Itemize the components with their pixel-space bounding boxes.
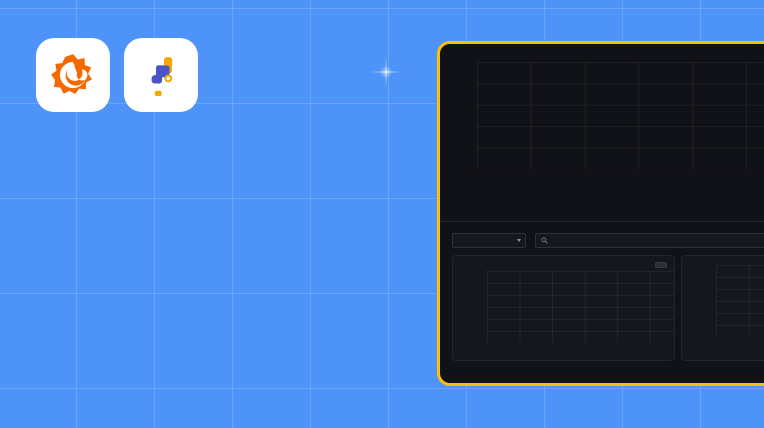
search-input[interactable] [535, 233, 764, 248]
top-chart-series [477, 62, 764, 169]
dashboard-card [437, 41, 764, 386]
hero-panel [0, 0, 430, 428]
by-label-group [452, 230, 526, 248]
opentelemetry-logo-icon [137, 51, 185, 99]
top-chart-plot-area [440, 62, 764, 169]
insert-y-axis [682, 265, 716, 337]
top-chart-y-axis [440, 62, 477, 169]
grafana-logo-tile [36, 38, 110, 112]
top-chart-x-axis [477, 169, 764, 182]
insert-x-axis [716, 337, 764, 348]
select-panel-header [453, 262, 674, 268]
add-to-filters-button[interactable] [655, 262, 667, 268]
breakdown-panel-row [440, 248, 764, 361]
breakdown-panel-insert[interactable] [681, 255, 764, 361]
breakdown-panel-select[interactable] [452, 255, 675, 361]
chevron-down-icon [517, 239, 521, 242]
logo-row [36, 38, 430, 112]
insert-plot-area [682, 265, 764, 337]
select-y-axis [453, 271, 487, 343]
insert-chart-canvas [716, 265, 764, 337]
by-label-select[interactable] [452, 233, 526, 248]
tab-bar [440, 199, 764, 222]
top-chart-panel [440, 44, 764, 199]
search-icon [541, 237, 548, 244]
search-group [535, 230, 764, 248]
grafana-logo-icon [50, 52, 96, 98]
opentelemetry-logo-tile [124, 38, 198, 112]
top-chart-canvas [477, 62, 764, 169]
controls-row [440, 222, 764, 248]
select-x-axis [487, 343, 674, 354]
select-plot-area [453, 271, 674, 343]
select-chart-canvas [487, 271, 674, 343]
select-chart-series [487, 271, 674, 343]
